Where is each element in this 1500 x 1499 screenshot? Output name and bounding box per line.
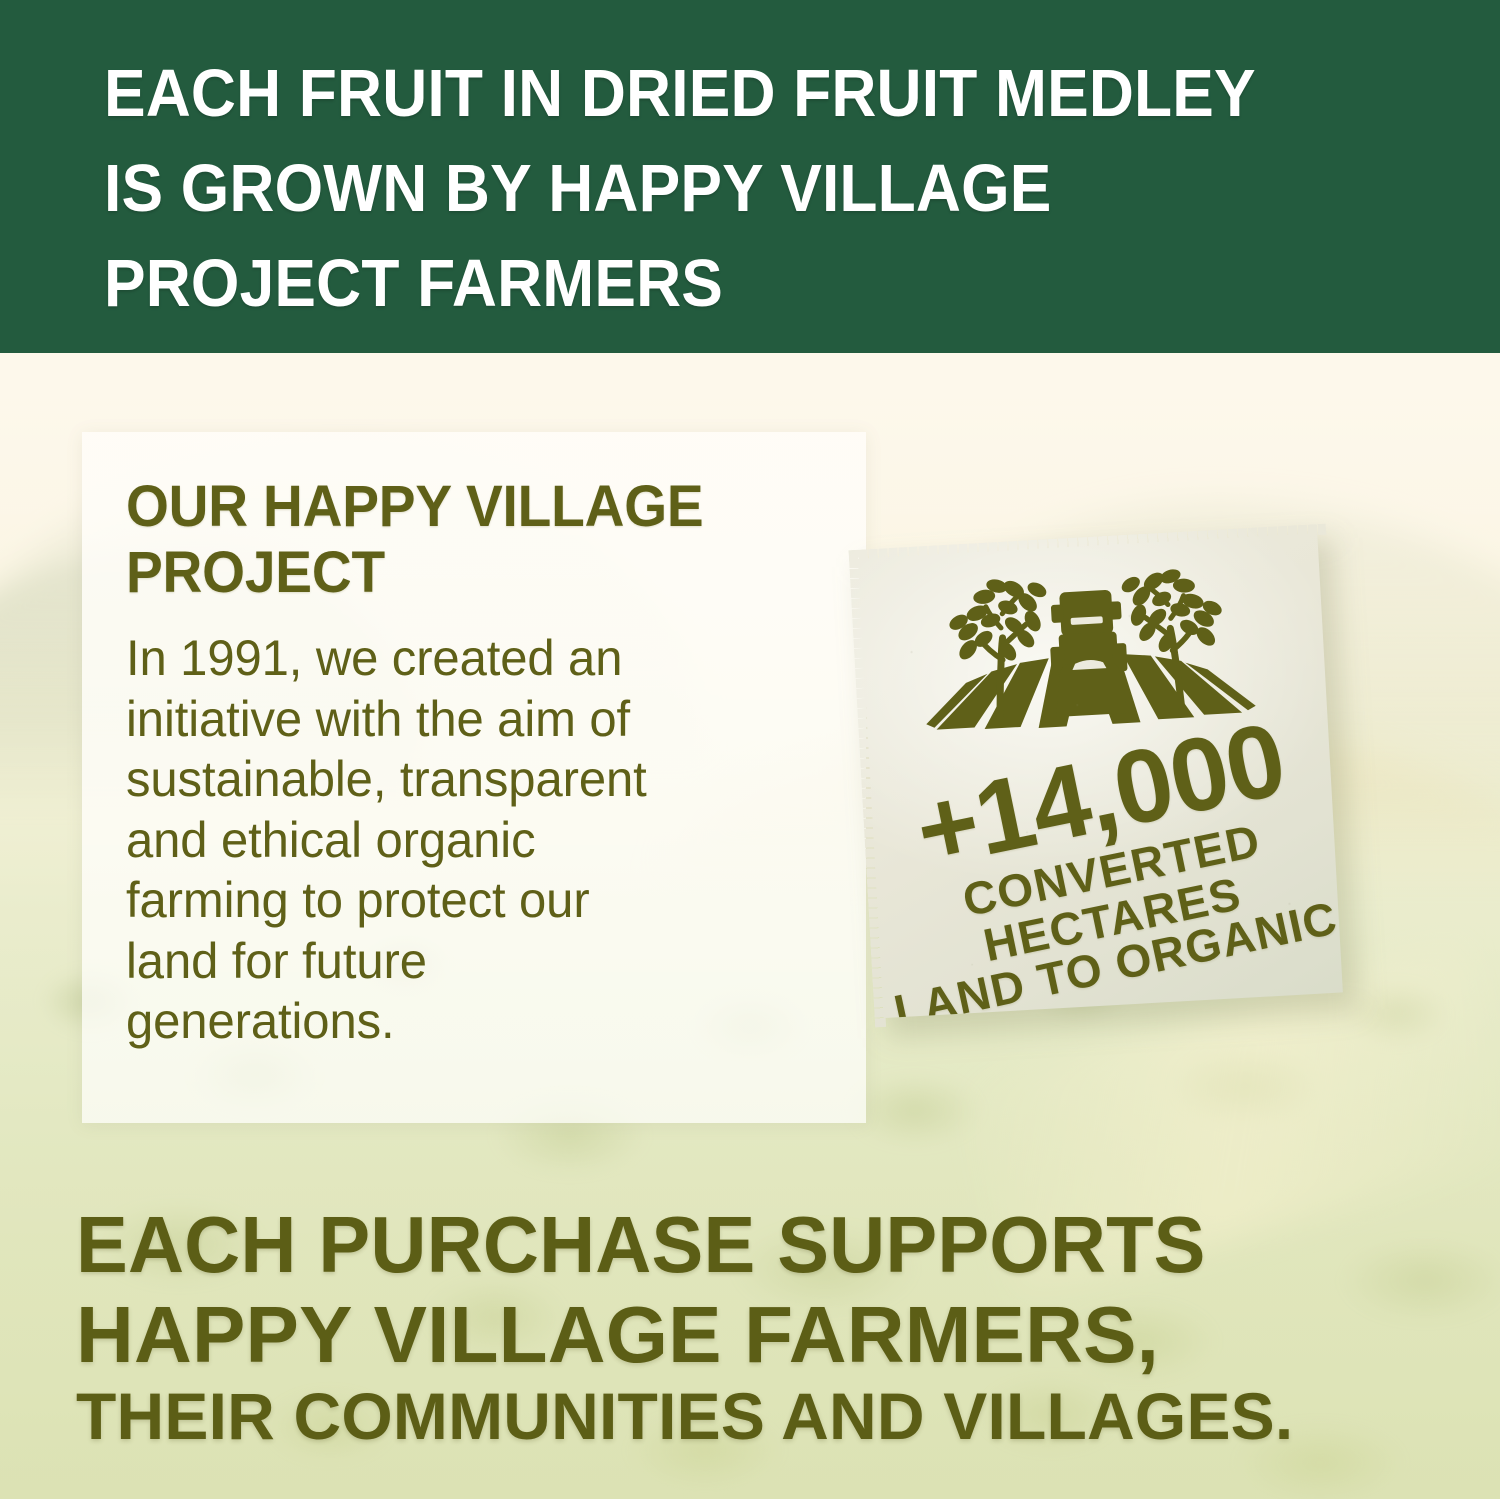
header-headline-line-3: PROJECT FARMERS: [104, 236, 1328, 331]
card-body-line-4: and ethical organic: [126, 810, 794, 871]
header-headline: EACH FRUIT IN DRIED FRUIT MEDLEY IS GROW…: [104, 46, 1328, 331]
stamp-paper: +14,000 CONVERTED HECTARES LAND TO ORGAN…: [848, 524, 1352, 1028]
bottom-headline: EACH PURCHASE SUPPORTS HAPPY VILLAGE FAR…: [76, 1200, 1456, 1455]
card-body-line-5: farming to protect our: [126, 870, 794, 931]
card-body-line-3: sustainable, transparent: [126, 749, 794, 810]
happy-village-project-infographic: EACH FRUIT IN DRIED FRUIT MEDLEY IS GROW…: [0, 0, 1500, 1499]
converted-hectares-stamp: +14,000 CONVERTED HECTARES LAND TO ORGAN…: [848, 522, 1373, 1049]
card-body-text: In 1991, we created an initiative with t…: [126, 628, 794, 1052]
card-body-line-6: land for future: [126, 931, 794, 992]
card-body-line-2: initiative with the aim of: [126, 689, 794, 750]
card-body-line-1: In 1991, we created an: [126, 628, 794, 689]
bottom-headline-line-2: HAPPY VILLAGE FARMERS,: [76, 1290, 1456, 1380]
card-title: OUR HAPPY VILLAGE PROJECT: [126, 474, 774, 606]
header-headline-line-1: EACH FRUIT IN DRIED FRUIT MEDLEY: [104, 46, 1328, 141]
header-headline-line-2: IS GROWN BY HAPPY VILLAGE: [104, 141, 1328, 236]
card-title-line-1: OUR HAPPY VILLAGE: [126, 474, 774, 540]
card-title-line-2: PROJECT: [126, 540, 774, 606]
happy-village-project-card: OUR HAPPY VILLAGE PROJECT In 1991, we cr…: [82, 432, 866, 1123]
bottom-headline-line-1: EACH PURCHASE SUPPORTS: [76, 1200, 1415, 1290]
card-body-line-7: generations.: [126, 991, 794, 1052]
header-banner: EACH FRUIT IN DRIED FRUIT MEDLEY IS GROW…: [0, 0, 1500, 353]
bottom-headline-line-3: THEIR COMMUNITIES AND VILLAGES.: [76, 1379, 1456, 1455]
